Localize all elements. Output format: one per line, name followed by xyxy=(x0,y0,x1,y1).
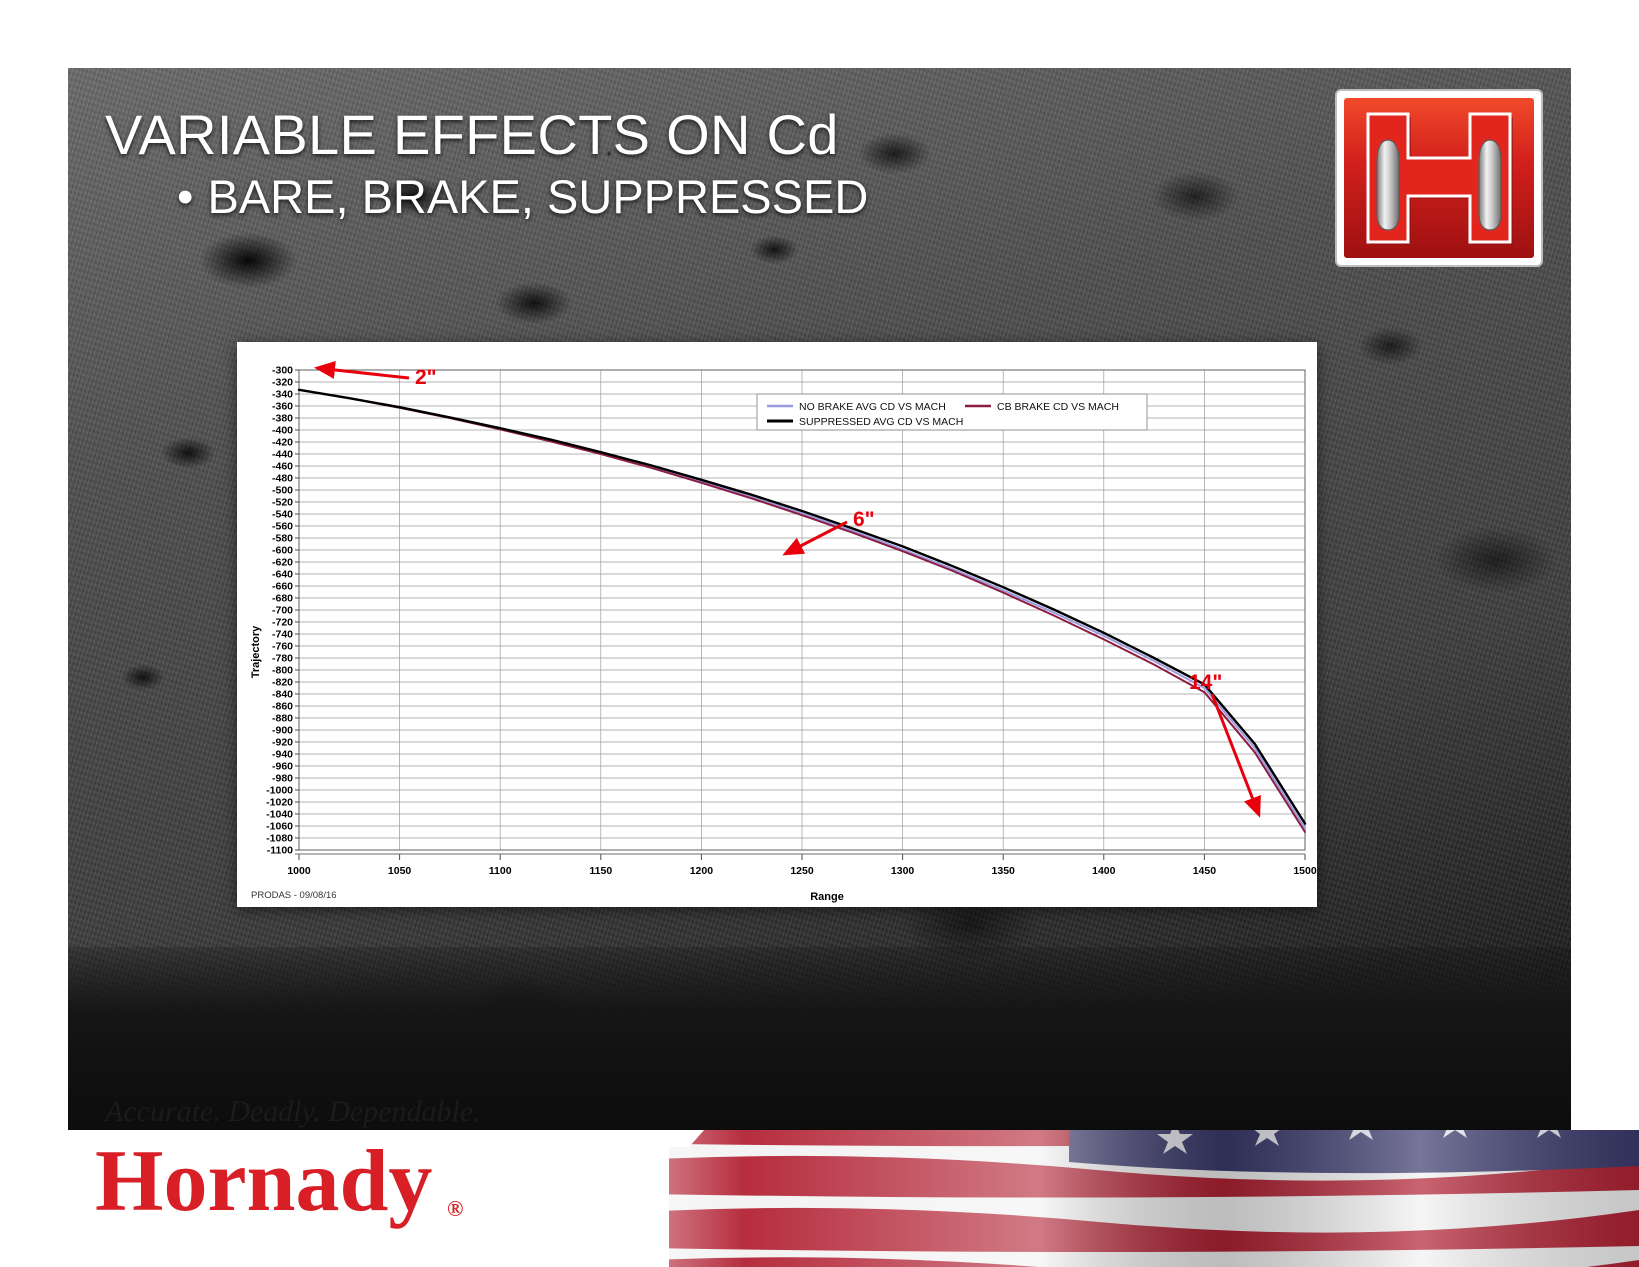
x-axis-title: Range xyxy=(810,891,844,903)
x-tick-label: 1100 xyxy=(489,865,512,877)
y-tick-label: -880 xyxy=(272,712,293,724)
subtitle-text: BARE, BRAKE, SUPPRESSED xyxy=(207,170,868,223)
y-tick-label: -300 xyxy=(272,364,293,376)
y-tick-label: -460 xyxy=(272,460,293,472)
x-tick-label: 1500 xyxy=(1293,865,1317,877)
chart-gridlines xyxy=(299,370,1305,850)
y-tick-label: -820 xyxy=(272,676,293,688)
y-tick-label: -840 xyxy=(272,688,293,700)
y-tick-label: -1040 xyxy=(266,808,293,820)
y-tick-label: -940 xyxy=(272,748,293,760)
hornady-wordmark-logo: Hornady Hornady ® xyxy=(95,1130,525,1267)
brand-tagline: Accurate. Deadly. Dependable. xyxy=(105,1095,481,1129)
x-tick-label: 1450 xyxy=(1193,865,1217,877)
legend-label: CB BRAKE CD VS MACH xyxy=(997,401,1119,413)
y-tick-label: -1080 xyxy=(266,832,293,844)
bullet-glyph: • xyxy=(177,172,193,222)
y-tick-label: -540 xyxy=(272,508,293,520)
y-tick-label: -440 xyxy=(272,448,293,460)
x-tick-label: 1250 xyxy=(790,865,814,877)
y-tick-label: -520 xyxy=(272,496,293,508)
x-tick-label: 1050 xyxy=(388,865,412,877)
y-tick-label: -1000 xyxy=(266,784,293,796)
x-tick-label: 1200 xyxy=(690,865,714,877)
chart-footnote: PRODAS - 09/08/16 xyxy=(251,890,337,901)
hornady-wordmark-text: Hornady xyxy=(95,1133,432,1230)
registered-mark: ® xyxy=(447,1196,463,1221)
y-tick-label: -780 xyxy=(272,652,293,664)
y-tick-label: -620 xyxy=(272,556,293,568)
trajectory-chart-card: -300-320-340-360-380-400-420-440-460-480… xyxy=(237,342,1317,907)
x-tick-label: 1400 xyxy=(1092,865,1116,877)
y-tick-label: -1020 xyxy=(266,796,293,808)
legend-label: SUPPRESSED AVG CD VS MACH xyxy=(799,416,963,428)
y-tick-label: -700 xyxy=(272,604,293,616)
annotation-label: 14" xyxy=(1189,671,1222,694)
annotation-label: 6" xyxy=(853,508,875,531)
title-block: VARIABLE EFFECTS ON Cd •BARE, BRAKE, SUP… xyxy=(105,105,1105,222)
y-tick-label: -900 xyxy=(272,724,293,736)
subtitle-row: •BARE, BRAKE, SUPPRESSED xyxy=(105,172,1105,222)
y-tick-label: -560 xyxy=(272,520,293,532)
y-tick-label: -960 xyxy=(272,760,293,772)
x-tick-label: 1150 xyxy=(589,865,612,877)
chart-legend: NO BRAKE AVG CD VS MACHCB BRAKE CD VS MA… xyxy=(757,394,1147,430)
page-title: VARIABLE EFFECTS ON Cd xyxy=(105,105,1105,164)
annotation-label: 2" xyxy=(415,366,437,389)
y-tick-label: -320 xyxy=(272,376,293,388)
y-tick-label: -640 xyxy=(272,568,293,580)
x-tick-label: 1350 xyxy=(992,865,1016,877)
y-tick-label: -580 xyxy=(272,532,293,544)
y-tick-label: -480 xyxy=(272,472,293,484)
hornady-h-logo-icon xyxy=(1334,88,1544,268)
y-tick-label: -360 xyxy=(272,400,293,412)
american-flag-graphic xyxy=(549,1130,1639,1267)
y-tick-label: -740 xyxy=(272,628,293,640)
y-tick-label: -380 xyxy=(272,412,293,424)
y-tick-label: -1060 xyxy=(266,820,293,832)
y-tick-label: -800 xyxy=(272,664,293,676)
y-tick-label: -500 xyxy=(272,484,293,496)
y-tick-label: -420 xyxy=(272,436,293,448)
y-tick-label: -680 xyxy=(272,592,293,604)
y-tick-label: -400 xyxy=(272,424,293,436)
y-tick-label: -980 xyxy=(272,772,293,784)
y-tick-label: -720 xyxy=(272,616,293,628)
y-tick-label: -340 xyxy=(272,388,293,400)
legend-label: NO BRAKE AVG CD VS MACH xyxy=(799,401,946,413)
slide-footer: Hornady Hornady ® xyxy=(0,1130,1639,1267)
slide-canvas: VARIABLE EFFECTS ON Cd •BARE, BRAKE, SUP… xyxy=(0,0,1639,1267)
trajectory-chart: -300-320-340-360-380-400-420-440-460-480… xyxy=(237,342,1317,907)
y-tick-label: -860 xyxy=(272,700,293,712)
y-tick-label: -660 xyxy=(272,580,293,592)
y-axis-title: Trajectory xyxy=(250,625,262,678)
y-tick-label: -920 xyxy=(272,736,293,748)
y-tick-label: -760 xyxy=(272,640,293,652)
y-tick-label: -600 xyxy=(272,544,293,556)
x-tick-label: 1300 xyxy=(891,865,915,877)
x-tick-label: 1000 xyxy=(287,865,311,877)
y-tick-label: -1100 xyxy=(267,844,293,856)
